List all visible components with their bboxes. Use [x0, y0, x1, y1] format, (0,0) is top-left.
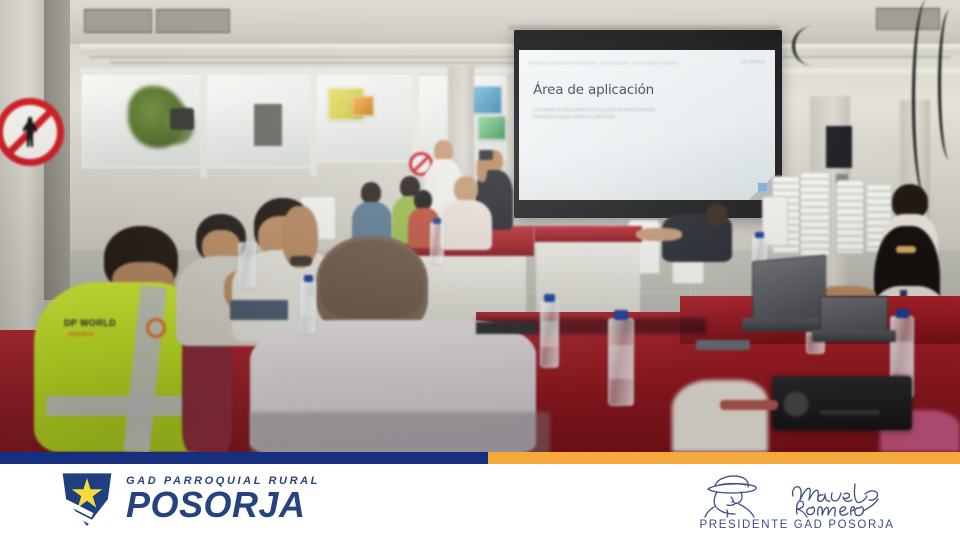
bottle-cap	[755, 232, 764, 238]
bottle-label	[609, 345, 633, 379]
ceiling-vent	[156, 9, 230, 33]
vest-sub-text: POSORJA	[68, 332, 94, 338]
side-table-runner	[534, 226, 642, 242]
slide-corner-accent	[758, 183, 767, 191]
seated-attendee	[352, 182, 392, 244]
logo-wordmark: GAD PARROQUIAL RURAL POSORJA	[126, 475, 320, 524]
head	[706, 204, 728, 226]
vest-logo-mark	[146, 318, 166, 338]
bottle-cap	[304, 275, 313, 282]
wall-poster	[352, 96, 374, 116]
dp-world-logo: DP WORLD	[741, 59, 765, 64]
laptop-base	[812, 330, 896, 342]
bottle-label	[891, 341, 913, 373]
bottle-cap	[544, 294, 555, 302]
manuel-romero-signature: PRESIDENTE GAD POSORJA	[692, 470, 902, 531]
projector-vent	[820, 410, 880, 415]
shirt-shadow	[250, 412, 550, 452]
stacked-chairs	[836, 180, 864, 254]
wall-panel	[254, 104, 282, 146]
vest-logo-text: DP WORLD	[64, 318, 116, 328]
slide-title: Área de aplicación	[533, 82, 654, 98]
bottle-cap	[896, 309, 909, 318]
shield-icon	[58, 470, 116, 528]
foreground-attendee	[250, 236, 550, 452]
laptop-screen	[752, 255, 826, 325]
window-mullion	[310, 68, 317, 176]
arm-pointing	[636, 228, 682, 241]
posorja-gad-logo: GAD PARROQUIAL RURAL POSORJA	[58, 470, 320, 528]
hanging-cable	[912, 0, 941, 200]
bottle-label	[301, 297, 315, 317]
slide-header-text: Política de Comunidades DP World Posorja…	[529, 61, 765, 65]
slide-body-text: Los sujetos de esta política son los gru…	[533, 106, 660, 121]
bottle-cap	[614, 310, 628, 320]
signature-icon	[697, 470, 897, 518]
window-mullion	[200, 68, 207, 178]
head	[414, 190, 432, 210]
stacked-chairs	[800, 172, 830, 256]
footer-banner: GAD PARROQUIAL RURAL POSORJA	[0, 464, 960, 540]
wall-poster	[470, 86, 502, 114]
power-cable	[720, 400, 778, 410]
hair	[320, 240, 424, 318]
signature-caption: PRESIDENTE GAD POSORJA	[692, 519, 902, 531]
water-bottle	[608, 318, 634, 406]
wall-panel	[826, 126, 852, 168]
drinking-glass	[238, 242, 256, 288]
head	[454, 176, 478, 202]
table-item	[476, 322, 536, 334]
head	[361, 182, 381, 204]
ceiling-vent	[84, 9, 152, 33]
attendee-leaning	[636, 204, 732, 274]
projector-lens	[782, 390, 810, 418]
bottle-label	[541, 321, 558, 347]
water-bottle	[540, 300, 559, 368]
presentation-slide: Política de Comunidades DP World Posorja…	[519, 50, 775, 200]
projector	[772, 376, 912, 430]
banner-bar-orange	[488, 452, 960, 464]
meeting-photograph: Política de Comunidades DP World Posorja…	[0, 0, 960, 452]
logo-title: POSORJA	[126, 487, 320, 524]
foreground-attendee-right-2	[672, 380, 768, 452]
speaker	[170, 108, 194, 130]
screen-roller	[508, 22, 780, 30]
eyeglasses	[896, 246, 916, 253]
bottle-cap	[433, 218, 441, 224]
water-bottle	[430, 222, 444, 264]
table-item	[696, 340, 750, 350]
hanging-cable	[938, 10, 960, 160]
hair	[892, 184, 928, 218]
projection-screen: Política de Comunidades DP World Posorja…	[514, 30, 782, 218]
poster-image: Política de Comunidades DP World Posorja…	[0, 0, 960, 540]
wall-poster	[478, 116, 506, 140]
pedestrian-glyph	[23, 117, 37, 147]
document-folder	[230, 300, 288, 320]
hanging-cable	[792, 26, 835, 66]
phone	[479, 150, 493, 160]
water-bottle	[300, 280, 316, 334]
banner-bar-blue	[0, 452, 488, 464]
